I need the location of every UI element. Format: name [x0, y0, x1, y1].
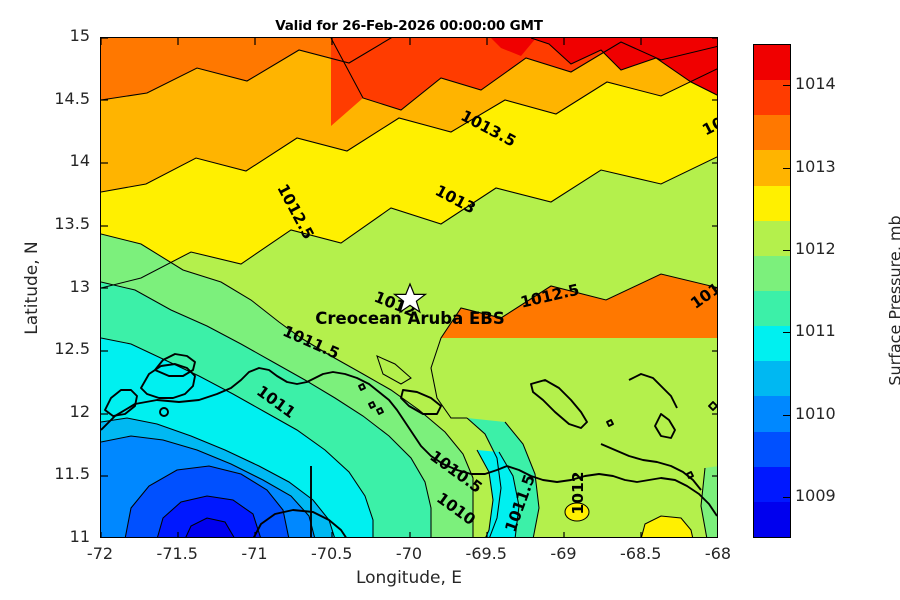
x-tick-label: -68	[683, 544, 753, 563]
y-tick-label: 11	[20, 527, 90, 546]
colorbar-band	[754, 256, 790, 291]
colorbar-tick-mark	[783, 85, 791, 86]
colorbar-tick-label: 1010	[795, 404, 836, 423]
colorbar-tick-label: 1013	[795, 157, 836, 176]
y-tick-label: 12	[20, 402, 90, 421]
x-tick-label: -72	[65, 544, 135, 563]
y-axis-label: Latitude, N	[22, 208, 42, 368]
colorbar-tick-label: 1014	[795, 74, 836, 93]
colorbar-tick-label: 1012	[795, 239, 836, 258]
x-axis-label: Longitude, E	[100, 568, 718, 588]
x-tick-label: -70.5	[297, 544, 367, 563]
x-tick-label: -71.5	[142, 544, 212, 563]
colorbar-band	[754, 432, 790, 467]
y-tick-label: 15	[20, 26, 90, 45]
colorbar-tick-label: 1009	[795, 486, 836, 505]
colorbar-tick-mark	[783, 168, 791, 169]
figure-title: Valid for 26-Feb-2026 00:00:00 GMT	[100, 18, 718, 34]
x-tick-label: -71	[220, 544, 290, 563]
x-tick-label: -69	[529, 544, 599, 563]
colorbar-tick-mark	[783, 415, 791, 416]
y-tick-label: 14	[20, 151, 90, 170]
colorbar[interactable]	[753, 44, 791, 538]
colorbar-tick-mark	[783, 332, 791, 333]
contour-plot-svg: 10141013.5101310131012.51012.51012101210…	[101, 38, 718, 538]
colorbar-tick-mark	[783, 250, 791, 251]
colorbar-label: Surface Pressure, mb	[886, 201, 900, 401]
colorbar-band	[754, 115, 790, 150]
x-tick-label: -68.5	[606, 544, 676, 563]
colorbar-band	[754, 291, 790, 326]
x-tick-label: -70	[374, 544, 444, 563]
contour-label: 1012	[569, 471, 587, 514]
colorbar-band	[754, 361, 790, 396]
pressure-map-figure: Valid for 26-Feb-2026 00:00:00 GMT	[0, 0, 900, 600]
y-tick-label: 11.5	[20, 464, 90, 483]
colorbar-tick-label: 1011	[795, 321, 836, 340]
x-tick-label: -69.5	[451, 544, 521, 563]
colorbar-band	[754, 502, 790, 537]
colorbar-band	[754, 186, 790, 221]
contour-plot-area: 10141013.5101310131012.51012.51012101210…	[100, 37, 718, 538]
y-tick-label: 14.5	[20, 89, 90, 108]
colorbar-tick-mark	[783, 497, 791, 498]
colorbar-band	[754, 45, 790, 80]
station-label: Creocean Aruba EBS	[315, 309, 504, 328]
